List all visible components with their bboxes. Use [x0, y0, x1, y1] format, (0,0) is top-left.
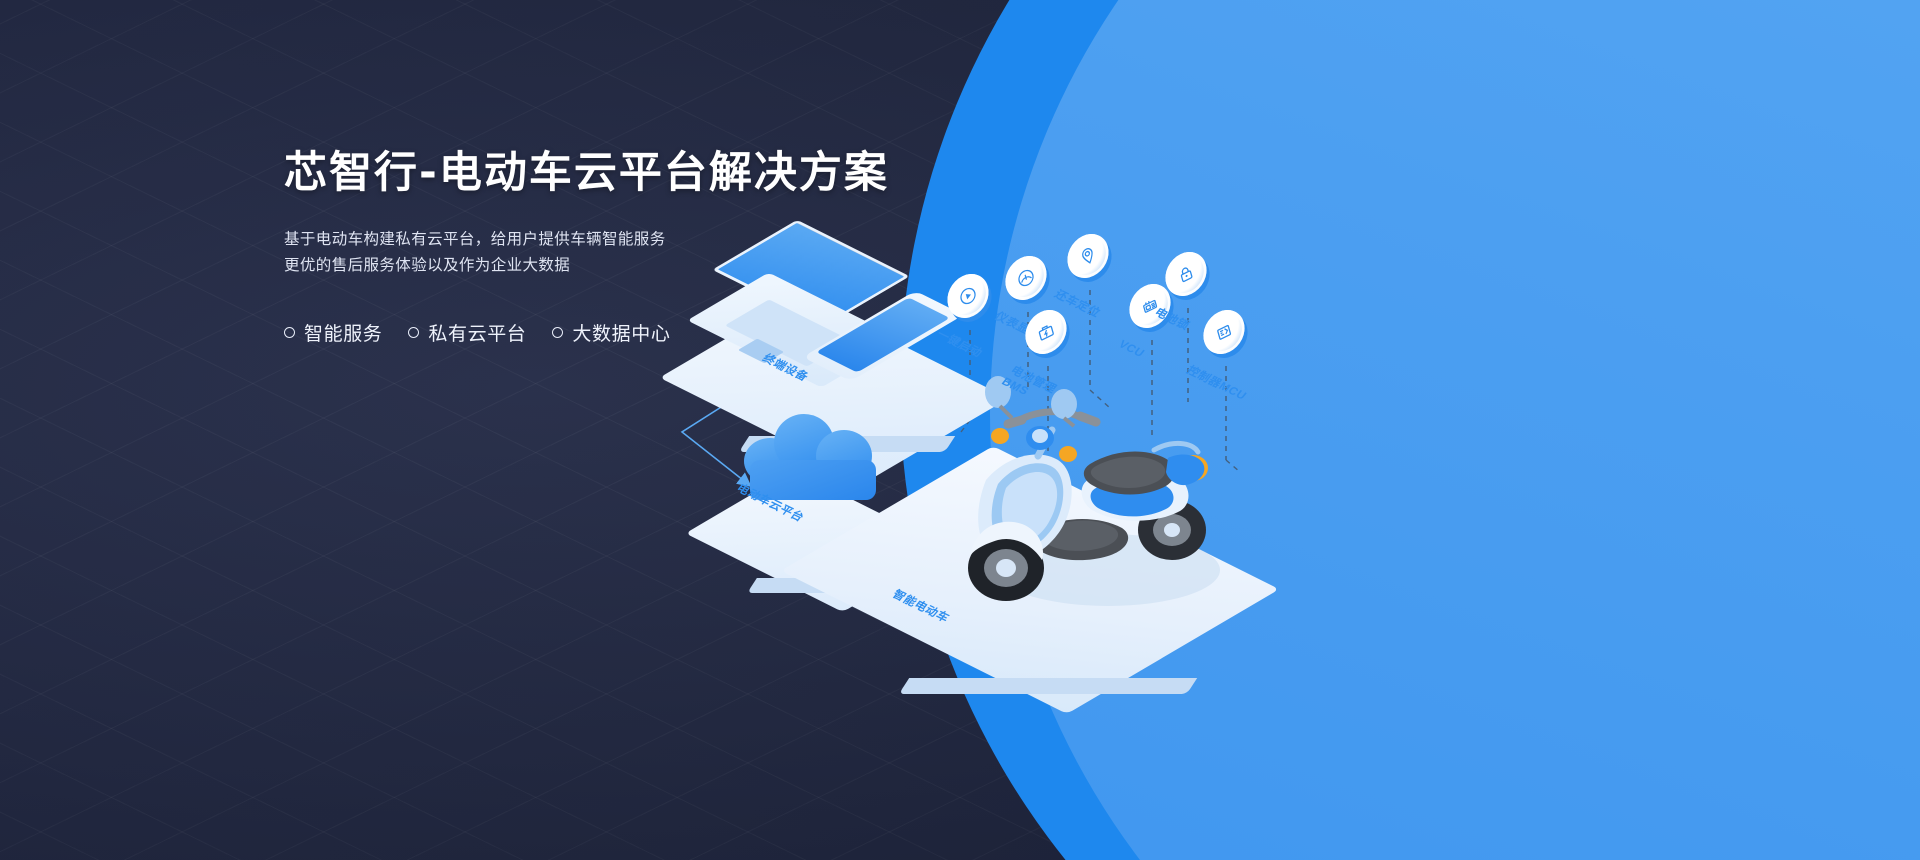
label-vcu: VCU: [1115, 338, 1147, 361]
power-play-icon: [943, 267, 994, 326]
badge-return-positioning[interactable]: [1066, 234, 1114, 282]
bullet-label: 智能服务: [304, 319, 382, 346]
mcu-board-icon: [1199, 303, 1250, 362]
bullet-item-smart-service: 智能服务: [284, 319, 382, 346]
badge-battery-management[interactable]: [1024, 310, 1072, 358]
location-target-icon: [1063, 227, 1114, 286]
lock-icon: [1161, 245, 1212, 304]
badge-battery-lock[interactable]: [1164, 252, 1212, 300]
circle-outline-icon: [284, 327, 295, 338]
badge-dashboard-display[interactable]: [1004, 256, 1052, 304]
badge-one-key-start[interactable]: [946, 274, 994, 322]
bullet-label: 私有云平台: [428, 319, 526, 346]
gauge-icon: [1001, 249, 1052, 308]
bullet-item-private-cloud: 私有云平台: [408, 319, 526, 346]
badge-controller-mcu[interactable]: [1202, 310, 1250, 358]
isometric-illustration: 终端设备 电动车云平台: [640, 190, 1820, 840]
banner-stage: 芯智行-电动车云平台解决方案 基于电动车构建私有云平台，给用户提供车辆智能服务 …: [0, 0, 1920, 860]
circle-outline-icon: [408, 327, 419, 338]
electric-scooter: [940, 360, 1270, 640]
battery-bolt-icon: [1021, 303, 1072, 362]
circle-outline-icon: [552, 327, 563, 338]
